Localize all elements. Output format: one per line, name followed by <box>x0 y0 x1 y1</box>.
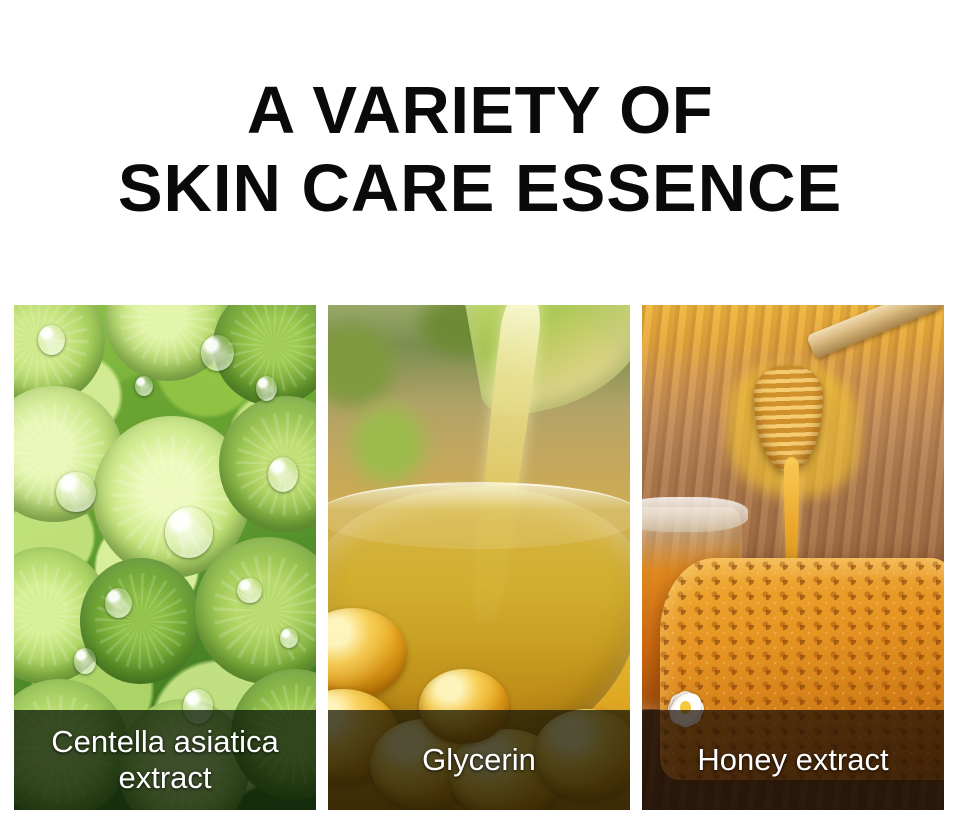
panel-label-honey: Honey extract <box>642 710 944 810</box>
ingredient-panel-centella[interactable]: Centella asiaticaextract <box>14 305 316 810</box>
page-title-line-1: A VARIETY OF <box>0 72 960 150</box>
panel-label-text: Honey extract <box>697 742 888 778</box>
ingredient-panel-row: Centella asiaticaextract <box>14 305 946 810</box>
ingredient-panel-honey[interactable]: Honey extract <box>642 305 944 810</box>
skin-care-essence-banner: A VARIETY OF SKIN CARE ESSENCE <box>0 0 960 827</box>
page-title: A VARIETY OF SKIN CARE ESSENCE <box>0 72 960 228</box>
glass-bowl-rim <box>328 482 630 550</box>
ingredient-panel-glycerin[interactable]: Glycerin <box>328 305 630 810</box>
panel-label-text: Glycerin <box>422 742 536 778</box>
panel-label-text: Centella asiaticaextract <box>51 724 278 796</box>
page-title-line-2: SKIN CARE ESSENCE <box>0 150 960 228</box>
panel-label-glycerin: Glycerin <box>328 710 630 810</box>
honey-jar-lid <box>642 497 748 532</box>
panel-label-centella: Centella asiaticaextract <box>14 710 316 810</box>
pouring-spout <box>463 305 630 421</box>
